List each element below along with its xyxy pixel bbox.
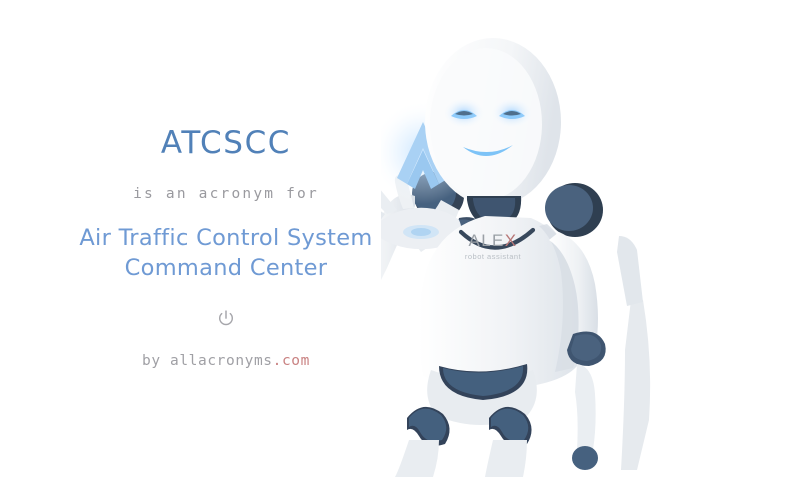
byline-tld: .com bbox=[273, 353, 310, 369]
chest-brand-alex: ALEX bbox=[468, 231, 517, 250]
byline[interactable]: by allacronyms.com bbox=[142, 353, 310, 369]
robot-right-shoulder bbox=[545, 183, 603, 237]
acronym-text-block: ATCSCC is an acronym for Air Traffic Con… bbox=[0, 0, 452, 477]
robot-chest-branding: ALEX robot assistant bbox=[465, 231, 522, 261]
acronym-title: ATCSCC bbox=[161, 128, 291, 159]
chest-tagline: robot assistant bbox=[465, 252, 522, 261]
acronym-connector-label: is an acronym for bbox=[133, 186, 319, 202]
acronym-card-page: ATCSCC is an acronym for Air Traffic Con… bbox=[0, 0, 801, 477]
power-icon bbox=[216, 309, 236, 329]
byline-prefix: by allacronyms bbox=[142, 353, 273, 369]
robot-far-leg bbox=[617, 236, 650, 470]
acronym-definition: Air Traffic Control System Command Cente… bbox=[26, 224, 426, 283]
